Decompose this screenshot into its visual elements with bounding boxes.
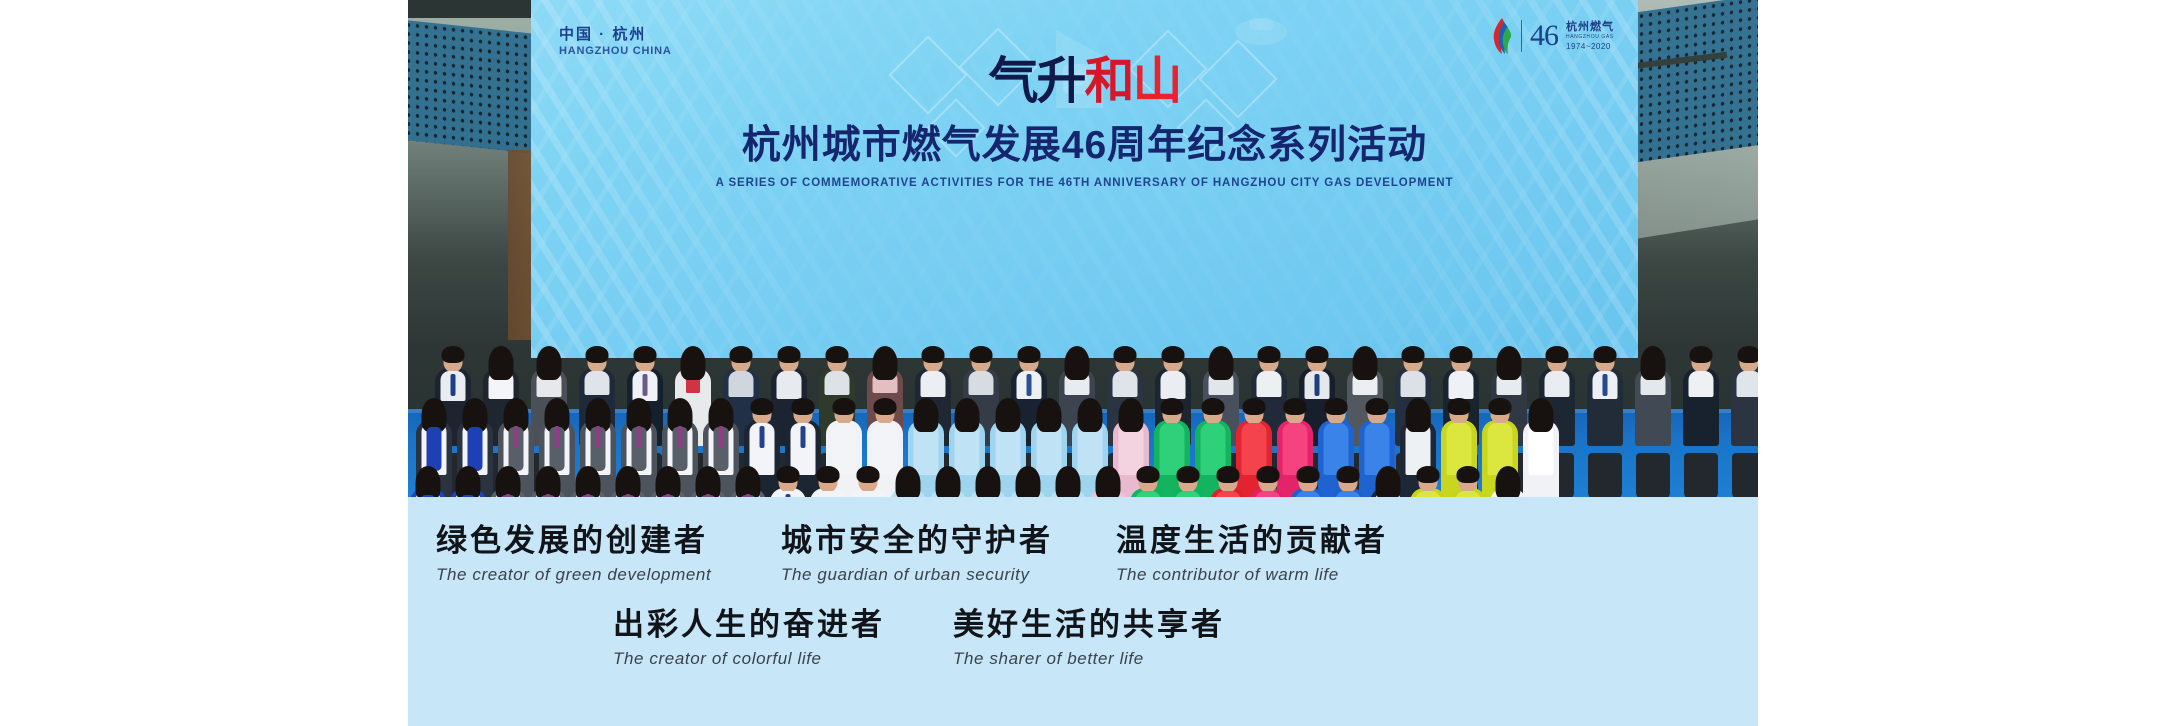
flame-icon [1491, 18, 1513, 54]
company-name-en: HANGZHOU GAS [1566, 33, 1614, 41]
slogan-5-cn: 美好生活的共享者 [953, 607, 1293, 643]
slogan-item-4: 出彩人生的奋进者 The creator of colorful life [408, 607, 953, 669]
slogan-3-cn: 温度生活的贡献者 [1116, 523, 1456, 559]
slogan-2-cn: 城市安全的守护者 [781, 523, 1116, 559]
calligraphy-logo: 气 升 和 山 [531, 52, 1638, 110]
anniversary-number: 46 [1530, 21, 1558, 51]
group-photo: 中国 · 杭州 HANGZHOU CHINA 46 杭州燃气 HANGZHOU … [408, 0, 1758, 497]
slogan-3-en: The contributor of warm life [1116, 565, 1456, 585]
slogan-item-2: 城市安全的守护者 The guardian of urban security [781, 523, 1116, 585]
banner-title-cn: 杭州城市燃气发展46周年纪念系列活动 [531, 124, 1638, 168]
poster-page: 中国 · 杭州 HANGZHOU CHINA 46 杭州燃气 HANGZHOU … [0, 0, 2179, 726]
kv-glyph-4: 山 [1133, 54, 1181, 108]
slogan-1-en: The creator of green development [436, 565, 781, 585]
anniversary-years: 1974~2020 [1566, 41, 1614, 52]
brand-divider [1521, 20, 1522, 52]
slogan-item-1: 绿色发展的创建者 The creator of green developmen… [408, 523, 781, 585]
slogan-item-3: 温度生活的贡献者 The contributor of warm life [1116, 523, 1456, 585]
slogan-panel: 绿色发展的创建者 The creator of green developmen… [408, 497, 1758, 726]
poster-content-column: 中国 · 杭州 HANGZHOU CHINA 46 杭州燃气 HANGZHOU … [408, 0, 1758, 726]
slogan-1-cn: 绿色发展的创建者 [436, 523, 781, 559]
brand-lockup: 46 杭州燃气 HANGZHOU GAS 1974~2020 [1491, 18, 1614, 54]
people-group [408, 167, 1758, 497]
slogan-2-en: The guardian of urban security [781, 565, 1116, 585]
slogan-row-2: 出彩人生的奋进者 The creator of colorful life 美好… [408, 585, 1758, 669]
slogan-4-en: The creator of colorful life [613, 649, 953, 669]
kv-glyph-2: 升 [1037, 54, 1085, 108]
slogan-5-en: The sharer of better life [953, 649, 1293, 669]
kv-glyph-1: 气 [989, 54, 1037, 108]
kv-glyph-3: 和 [1085, 54, 1133, 108]
company-name-cn: 杭州燃气 [1566, 21, 1614, 33]
slogan-item-5: 美好生活的共享者 The sharer of better life [953, 607, 1293, 669]
location-cn: 中国 · 杭州 [559, 26, 672, 43]
slogan-row-1: 绿色发展的创建者 The creator of green developmen… [408, 497, 1758, 585]
slogan-4-cn: 出彩人生的奋进者 [613, 607, 953, 643]
